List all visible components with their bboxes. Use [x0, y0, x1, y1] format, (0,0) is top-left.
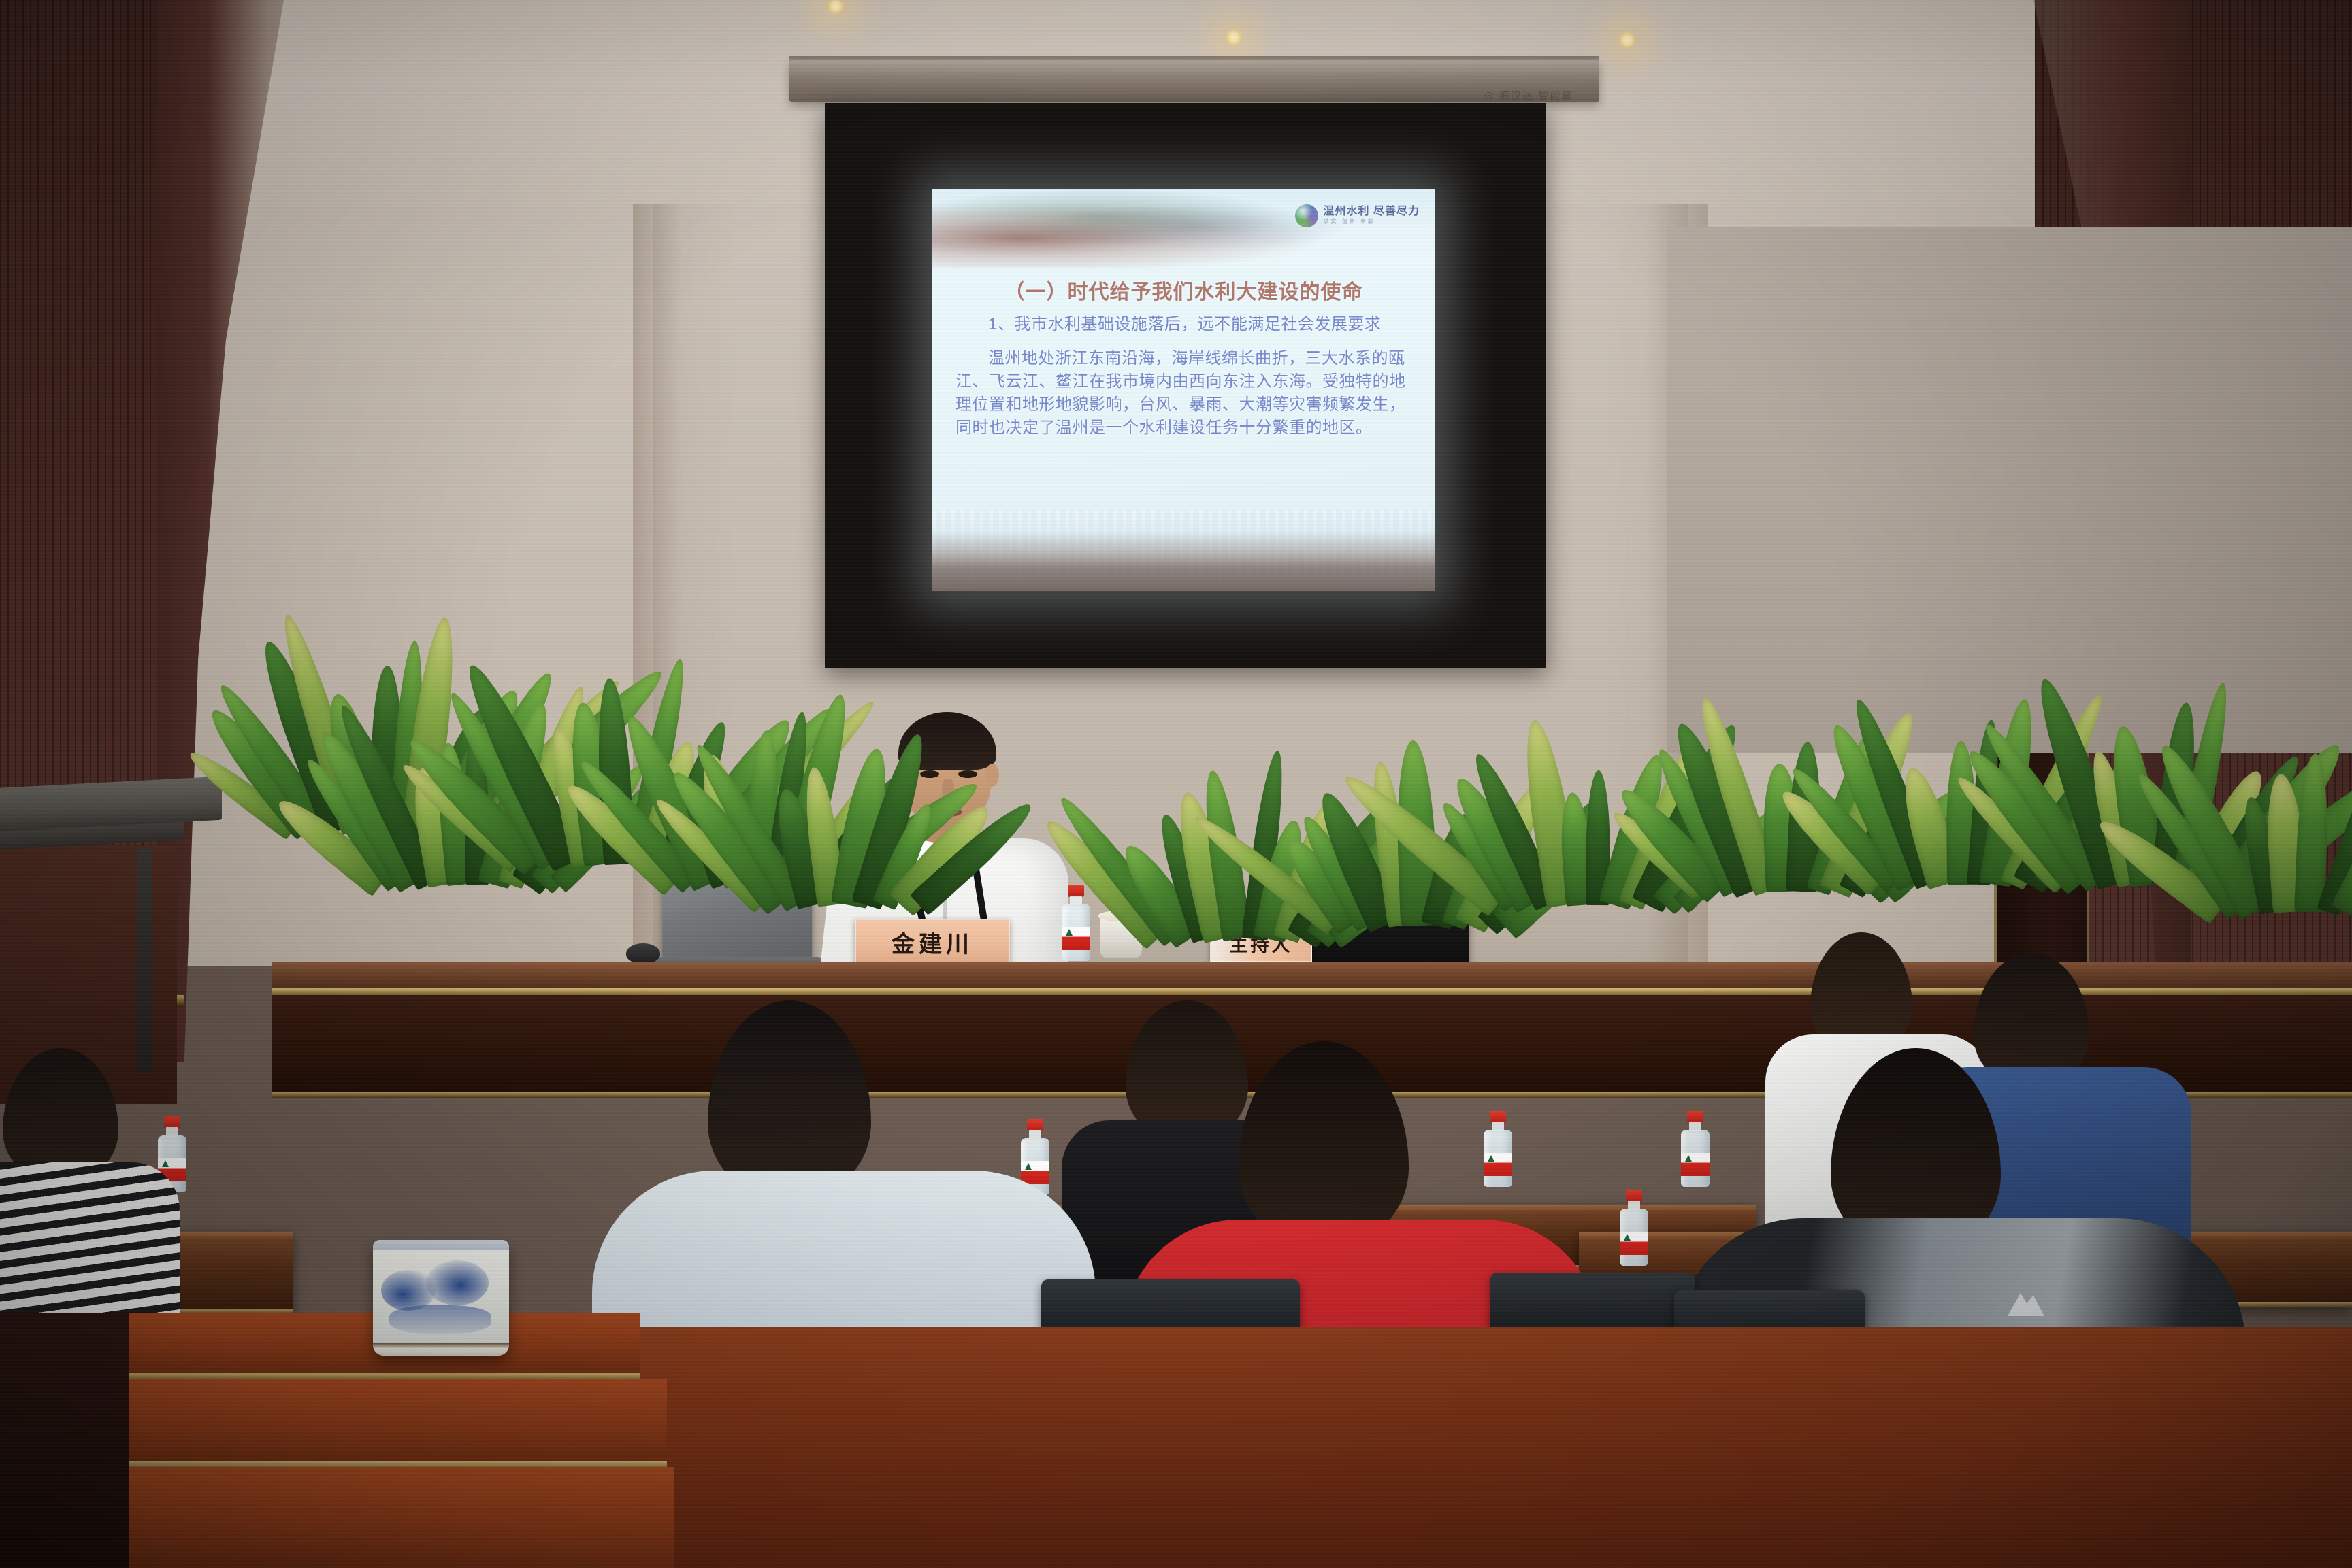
planter-rim: [373, 1240, 509, 1249]
bottle-label: [1484, 1153, 1512, 1176]
slide-bottom-photo: [932, 510, 1435, 591]
bottle-label: [1021, 1161, 1049, 1184]
presenter-eye-right: [958, 770, 977, 778]
bottle-leaf-icon: [1025, 1163, 1032, 1170]
speaker-nameplate: 金建川: [855, 919, 1010, 965]
bottle-leaf-icon: [1488, 1155, 1494, 1162]
projection-screen-surface: [1667, 227, 2352, 753]
porcelain-planter: [373, 1240, 509, 1356]
slide-logo: 温州水利 尽善尽力 求实 创新 奉献: [1295, 204, 1420, 227]
step-gold-edge: [122, 1461, 667, 1467]
lectern-top: [0, 777, 222, 833]
slide-top-photo: [932, 189, 1435, 268]
water-bottle[interactable]: [1484, 1111, 1512, 1187]
slide-title: （一）时代给予我们水利大建设的使命: [932, 275, 1435, 305]
presenter-eye-left: [920, 770, 939, 778]
screen-brand-label: ⊙ 振汉达 智能幕: [1484, 88, 1573, 103]
stage-step-3: [102, 1467, 674, 1568]
mouse[interactable]: [626, 943, 660, 964]
bottle-leaf-icon: [1624, 1234, 1631, 1241]
planter-landscape-motif: [426, 1260, 489, 1305]
bottle-leaf-icon: [162, 1160, 169, 1167]
planter-landscape-motif: [389, 1305, 491, 1334]
downlight-icon: [1618, 31, 1636, 49]
downlight-icon: [1225, 29, 1243, 46]
logo-sub-text: 求实 创新 奉献: [1324, 219, 1420, 225]
projected-slide: 温州水利 尽善尽力 求实 创新 奉献 （一）时代给予我们水利大建设的使命 1、我…: [932, 189, 1435, 591]
conference-room-photo: ⊙ 振汉达 智能幕 温州水利 尽善尽力 求实 创新 奉献 （一）时代给予我们水利…: [0, 0, 2352, 1568]
bottle-label: [1681, 1153, 1710, 1176]
bottle-leaf-icon: [1685, 1155, 1692, 1162]
water-bureau-logo-icon: [1295, 204, 1318, 227]
bottle-label: [1620, 1232, 1648, 1255]
slide-paragraph-1: 1、我市水利基础设施落后，远不能满足社会发展要求: [955, 313, 1420, 336]
bottle-leaf-icon: [1066, 929, 1073, 936]
logo-main-text: 温州水利 尽善尽力: [1324, 206, 1420, 218]
water-bottle[interactable]: [1620, 1190, 1648, 1266]
step-gold-edge: [122, 1373, 640, 1379]
presenter-ear-right: [985, 764, 999, 787]
bottle-label: [1062, 927, 1090, 950]
planter-foot: [373, 1343, 509, 1356]
slide-body: 1、我市水利基础设施落后，远不能满足社会发展要求 温州地处浙江东南沿海，海岸线绵…: [955, 313, 1420, 451]
stage-step-2: [122, 1379, 667, 1467]
water-bottle[interactable]: [1062, 885, 1090, 961]
slide-paragraph-2: 温州地处浙江东南沿海，海岸线绵长曲折，三大水系的瓯江、飞云江、鳌江在我市境内由西…: [955, 347, 1420, 440]
projector-screen-housing: [789, 60, 1599, 102]
left-dark-column: [0, 1313, 129, 1568]
lectern-leg: [137, 848, 152, 1073]
water-bottle[interactable]: [1681, 1111, 1710, 1187]
